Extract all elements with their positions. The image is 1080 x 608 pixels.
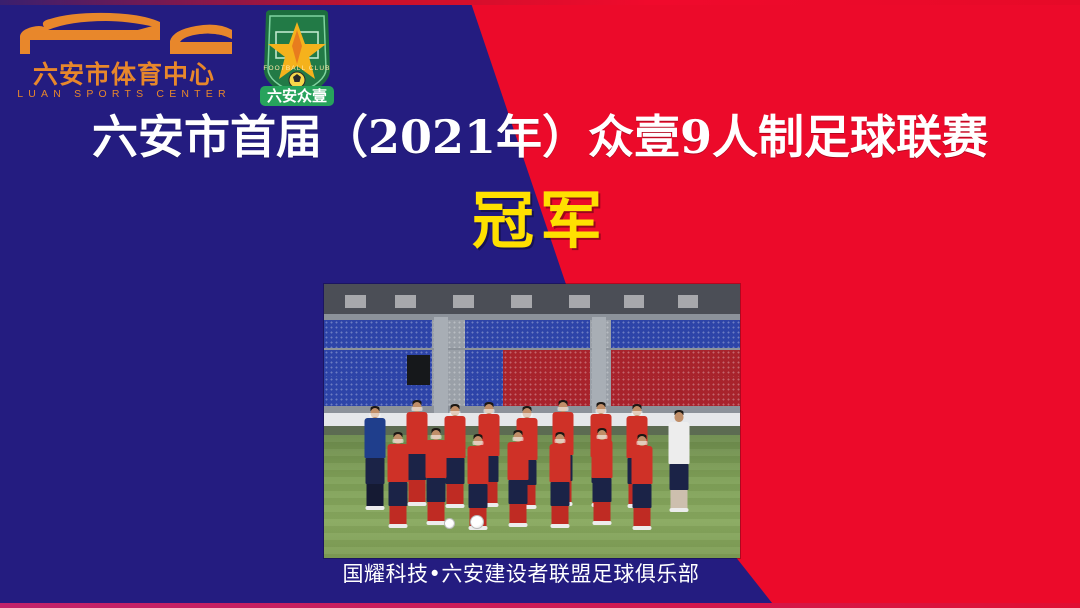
seat-band [465,320,590,349]
seat-band [324,320,432,349]
photo-player [666,410,692,512]
photo-tunnel [407,355,430,385]
page-title: 六安市首届（2021年）众壹9人制足球联赛 [0,114,1080,160]
seat-band [465,350,502,379]
logo-luan-sports-center: 六安市体育中心 LUAN SPORTS CENTER [10,8,238,100]
svg-text:六安众壹: 六安众壹 [267,87,327,105]
photo-player [424,428,448,524]
champion-poster: 六安市体育中心 LUAN SPORTS CENTER FOOTBALL CLUB… [0,0,1080,608]
seat-band [611,377,740,406]
photo-football [444,518,455,529]
shield-star-crest-icon: FOOTBALL CLUB 六安众壹 [252,8,342,108]
svg-text:FOOTBALL CLUB: FOOTBALL CLUB [263,65,330,72]
photo-player [362,406,388,510]
logo-sports-center-en: LUAN SPORTS CENTER [10,89,238,100]
photo-player [386,432,410,524]
logo-football-club: FOOTBALL CLUB 六安众壹 [252,8,342,113]
photo-player [506,430,530,524]
photo-stair-aisle [592,317,605,416]
team-caption: 国耀科技•六安建设者联盟足球俱乐部 [0,562,1080,587]
photo-player [466,434,490,524]
top-accent-rule [0,0,1080,5]
award-title: 冠军 [0,190,1080,252]
logo-sports-center-cn: 六安市体育中心 [10,62,238,87]
seat-band [503,350,590,379]
photo-roof [324,284,740,314]
team-photo [324,284,740,558]
photo-player [630,434,654,524]
photo-football [470,515,484,529]
seat-band [503,377,590,406]
bottom-accent-rule [0,603,1080,608]
photo-player [590,428,614,524]
photo-stair-aisle [434,317,447,416]
stadium-swoosh-icon [10,8,238,60]
seat-band [611,320,740,349]
photo-player [548,432,572,524]
logo-row: 六安市体育中心 LUAN SPORTS CENTER FOOTBALL CLUB… [10,8,342,113]
seat-band [611,350,740,379]
